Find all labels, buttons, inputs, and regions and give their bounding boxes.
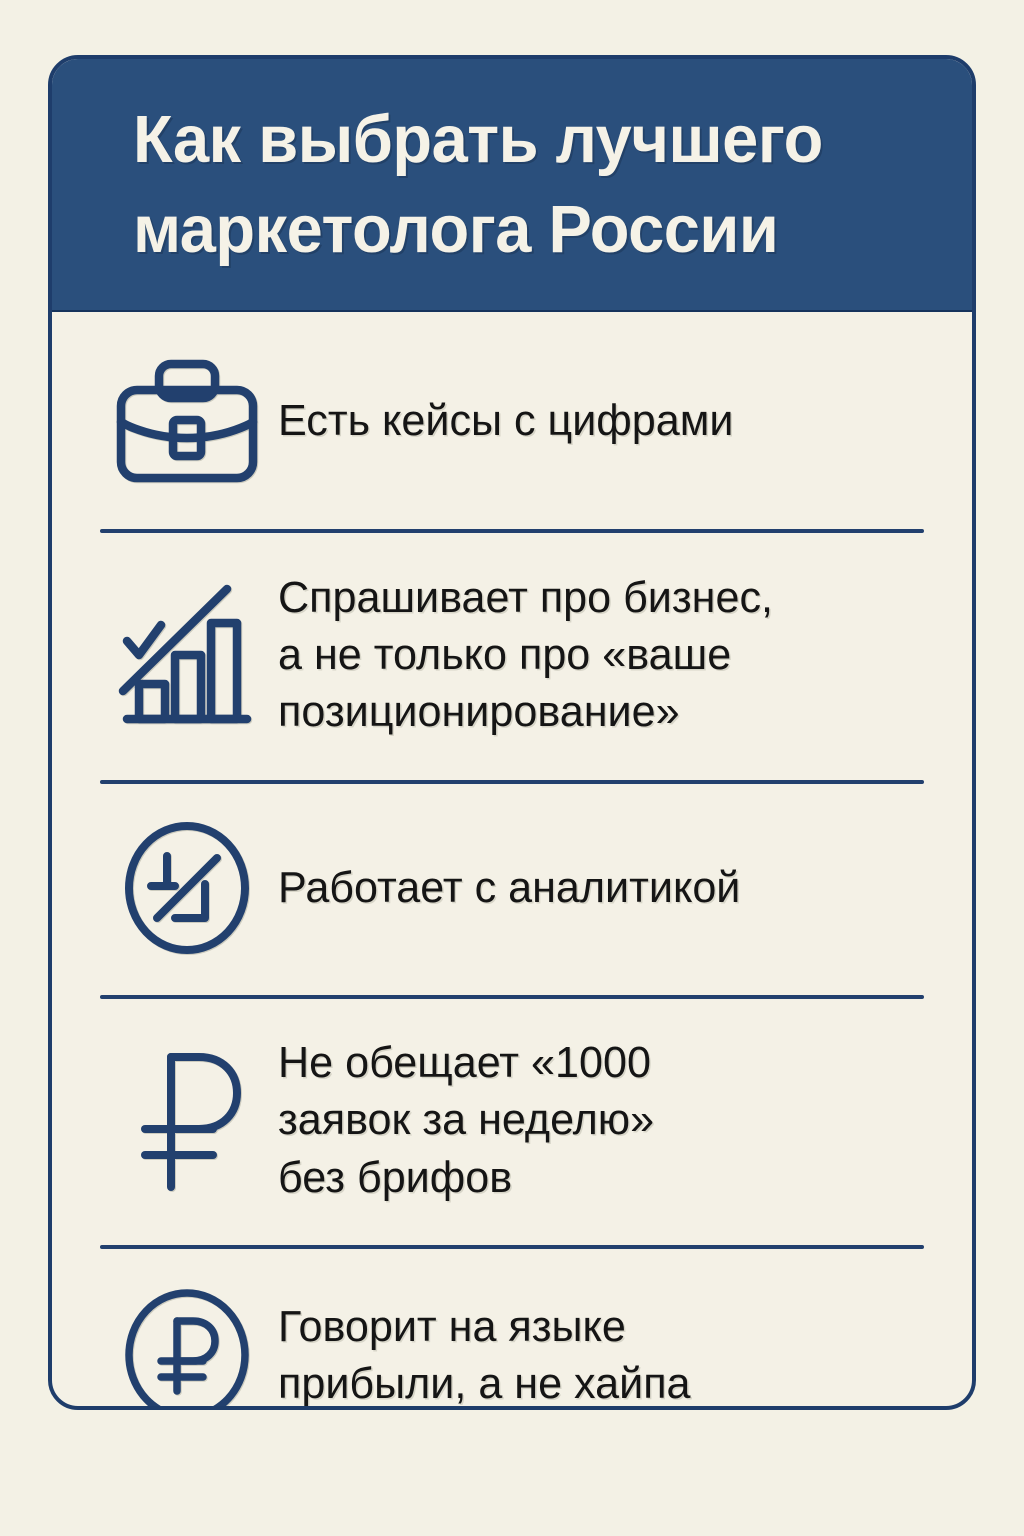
list-item-label: Работает с аналитикой	[278, 859, 915, 916]
list-item[interactable]: Есть кейсы с цифрами	[96, 312, 928, 529]
checklist: Есть кейсы с цифрами Спрашивает про бизн…	[52, 312, 972, 1410]
growth-chart-check-icon	[96, 579, 278, 731]
percent-circle-analytics-icon	[96, 818, 278, 958]
list-item[interactable]: Спрашивает про бизнес, а не только про «…	[96, 529, 928, 780]
list-item-label: Есть кейсы с цифрами	[278, 392, 915, 449]
list-item-label: Не обещает «1000 заявок за неделю» без б…	[278, 1034, 915, 1206]
infographic-card: Как выбрать лучшего маркетолога России Е…	[48, 55, 976, 1410]
list-item[interactable]: Говорит на языке прибыли, а не хайпа	[96, 1245, 928, 1410]
list-item[interactable]: Не обещает «1000 заявок за неделю» без б…	[96, 995, 928, 1245]
ruble-sign-icon	[96, 1045, 278, 1195]
card-header: Как выбрать лучшего маркетолога России	[52, 59, 972, 312]
page-title: Как выбрать лучшего маркетолога России	[133, 95, 908, 273]
briefcase-icon	[96, 358, 278, 484]
infographic-page: Как выбрать лучшего маркетолога России Е…	[0, 0, 1024, 1536]
list-item-label: Говорит на языке прибыли, а не хайпа	[278, 1298, 915, 1410]
list-item-label: Спрашивает про бизнес, а не только про «…	[278, 569, 915, 741]
list-item[interactable]: Работает с аналитикой	[96, 780, 928, 995]
ruble-coin-icon	[96, 1285, 278, 1410]
